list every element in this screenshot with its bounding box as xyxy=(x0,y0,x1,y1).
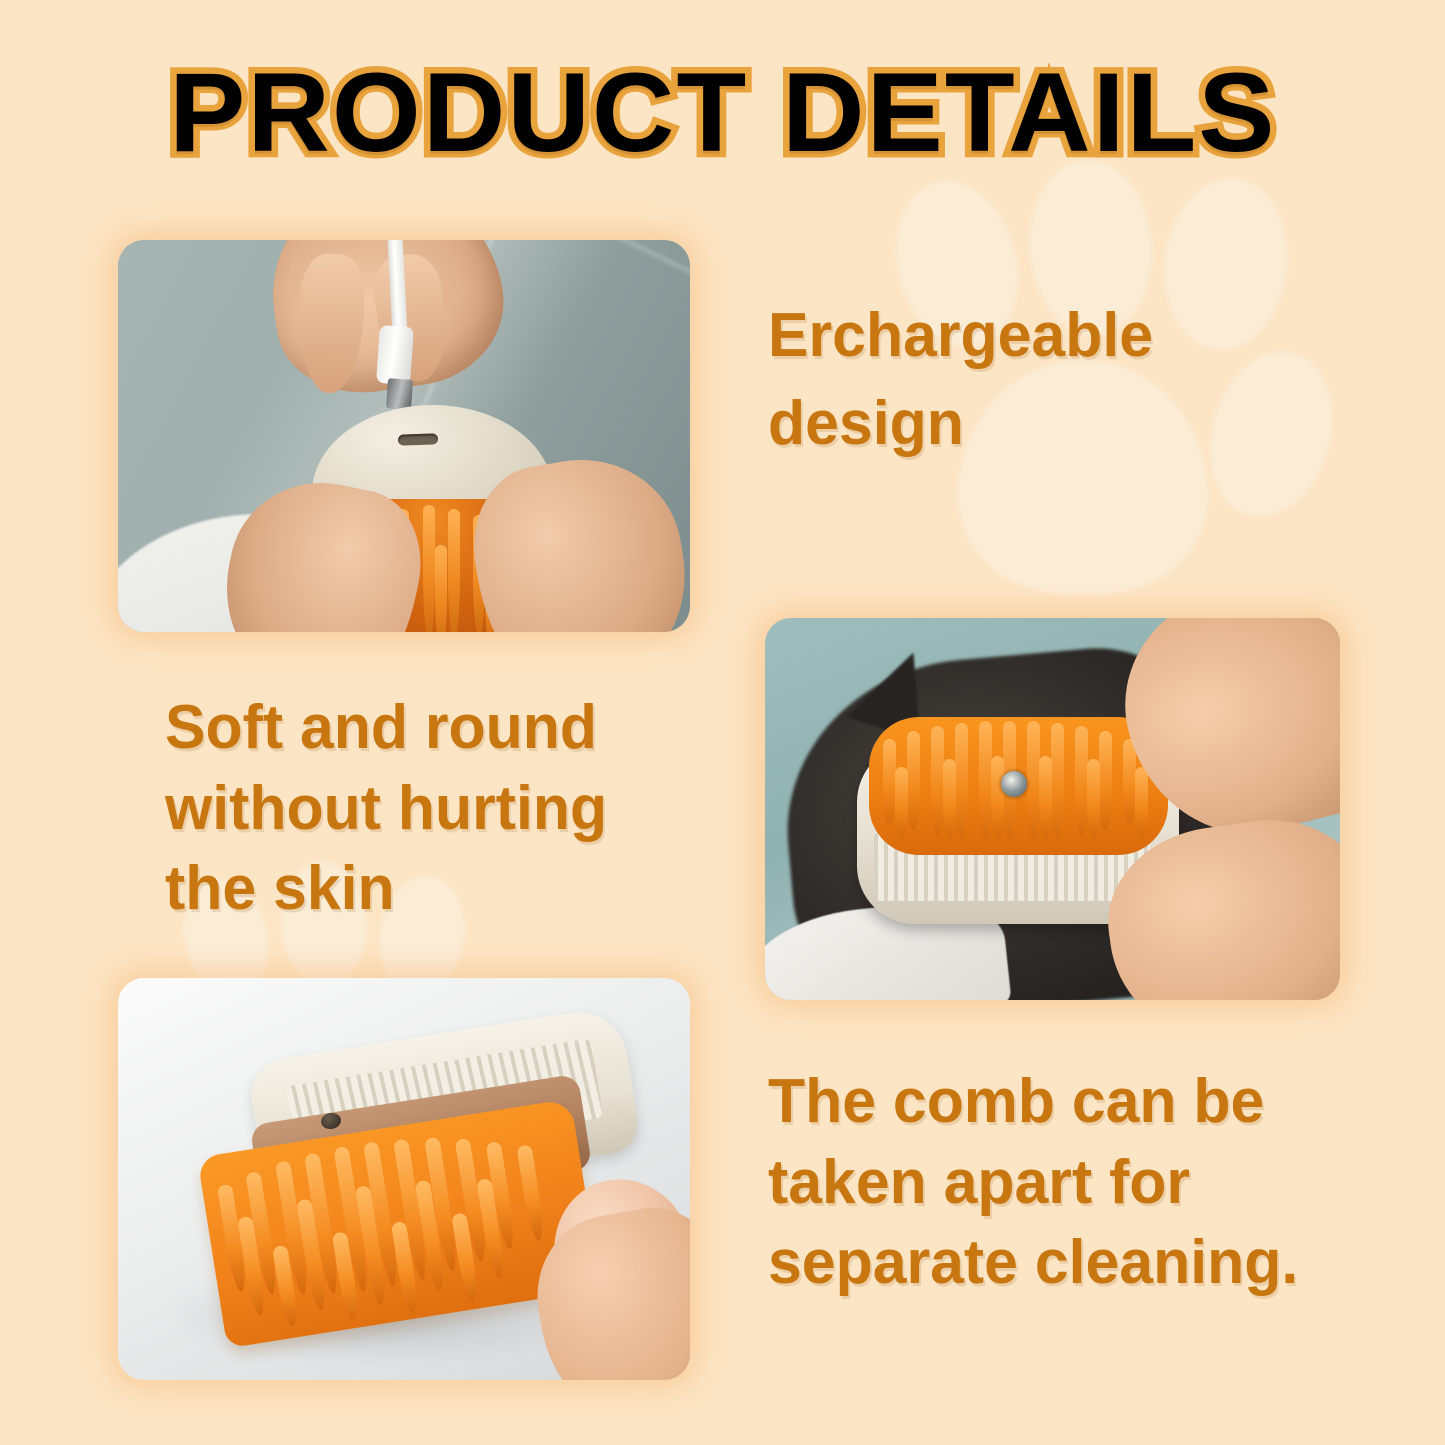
disassembled-photo-scene xyxy=(118,978,690,1380)
steam-nozzle-hole xyxy=(1001,771,1027,797)
caption-rechargeable-design: Erchargeable design xyxy=(768,292,1278,468)
caption-comb-separate-cleaning: The comb can be taken apart for separate… xyxy=(768,1062,1356,1304)
charging-photo-scene xyxy=(118,240,690,632)
page-title-container: PRODUCT DETAILS xyxy=(0,56,1445,170)
disassembled-photo xyxy=(118,978,690,1380)
page-title: PRODUCT DETAILS xyxy=(169,56,1276,170)
cat-brush-photo-scene xyxy=(765,618,1340,1000)
usb-plug-tip xyxy=(386,378,413,410)
product-details-poster: PRODUCT DETAILS xyxy=(0,0,1445,1445)
charging-photo xyxy=(118,240,690,632)
caption-soft-and-round: Soft and round without hurting the skin xyxy=(165,688,675,930)
usb-plug-body xyxy=(376,325,414,385)
charging-port xyxy=(398,433,438,445)
cat-brush-photo xyxy=(765,618,1340,1000)
